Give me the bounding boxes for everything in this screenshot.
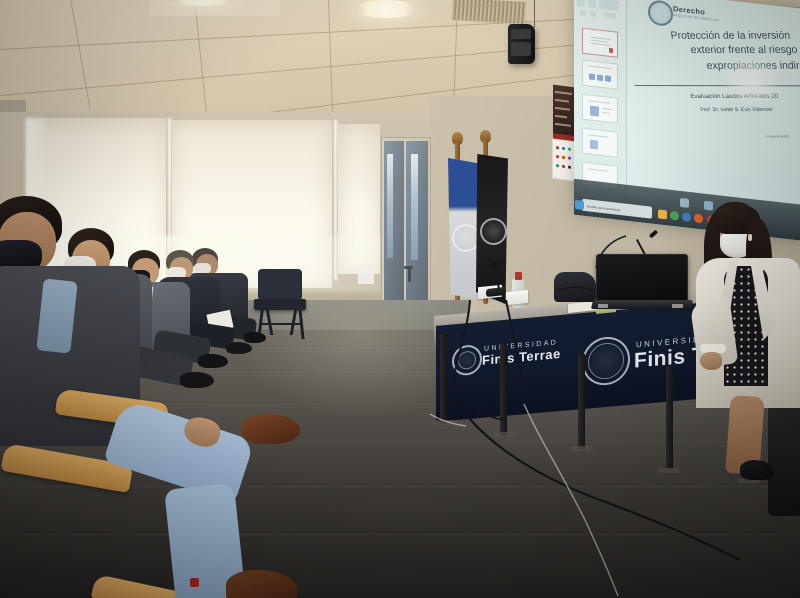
flag-crest-icon: [480, 218, 507, 245]
slide-title-line2: exterior frente al riesgo de: [690, 44, 800, 56]
name-card: [506, 290, 528, 305]
faculty-crest-icon: [648, 0, 673, 27]
slide-thumbnail[interactable]: [582, 60, 618, 90]
flag-crest-icon: [452, 224, 480, 252]
audience-member: [0, 196, 280, 596]
door-window: [387, 154, 393, 258]
hand: [700, 352, 722, 370]
bottle-cap[interactable]: [515, 272, 522, 280]
mail-icon[interactable]: [682, 212, 691, 222]
slide-title-line1: Protección de la inversión: [670, 30, 791, 42]
door-window: [411, 154, 418, 260]
door-notice: [358, 264, 374, 284]
brown-boot: [242, 414, 300, 444]
speaker-wire: [534, 0, 535, 28]
black-heel: [740, 460, 774, 480]
bag: [554, 272, 596, 302]
directory-sign: [553, 85, 575, 137]
file-explorer-icon[interactable]: [658, 209, 667, 219]
ceiling-light: [354, 0, 418, 18]
slide-thumbnail[interactable]: [582, 94, 618, 124]
presenter-chair: [768, 396, 800, 516]
windows-start-icon[interactable]: [575, 200, 584, 210]
floor-marker: [190, 578, 199, 587]
flag-group: [440, 132, 520, 312]
earring: [748, 234, 752, 241]
hvac-vent: [451, 0, 526, 24]
slide-footnote: Proyecto ANID: [766, 135, 790, 139]
wall-speaker: [508, 24, 535, 64]
university-seal-icon: [582, 335, 630, 387]
slide-author: Prof. Dr. Ivette S. Esis Villarroel: [700, 107, 772, 113]
presenter-laptop[interactable]: [596, 254, 692, 314]
conference-room-photo: Derecho FACULTAD DE DERECHO Protección d…: [0, 0, 800, 598]
slide-thumbnail[interactable]: [582, 128, 618, 158]
door-handle[interactable]: [408, 268, 411, 282]
task-view-icon[interactable]: [680, 198, 689, 208]
presenter: [694, 196, 800, 496]
safety-poster: [552, 139, 576, 182]
laptop-screen: [596, 254, 688, 304]
chrome-icon[interactable]: [670, 211, 679, 221]
university-seal-icon: [452, 344, 482, 377]
slide-thumbnail[interactable]: [582, 28, 618, 58]
